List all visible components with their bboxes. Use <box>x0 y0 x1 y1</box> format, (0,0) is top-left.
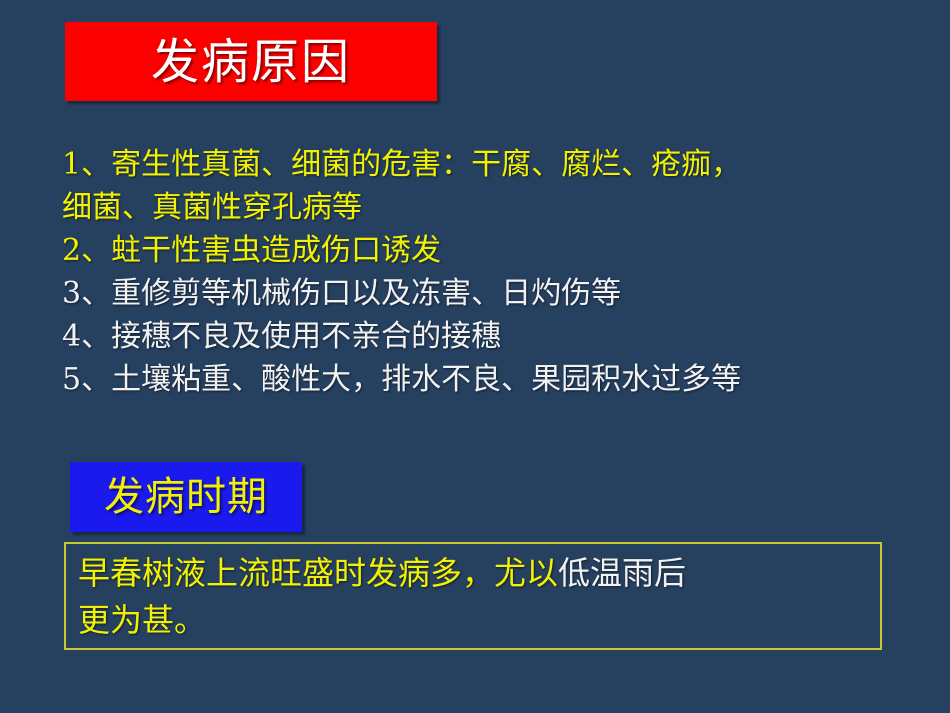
sub-banner-text: 发病时期 <box>104 477 268 517</box>
title-banner-text: 发病原因 <box>151 38 351 86</box>
causes-list: 1、寄生性真菌、细菌的危害：干腐、腐烂、疮痂， 细菌、真菌性穿孔病等 2、蛀干性… <box>62 143 942 401</box>
cause-line-3: 3、重修剪等机械伤口以及冻害、日灼伤等 <box>62 272 942 315</box>
cause-line-1: 1、寄生性真菌、细菌的危害：干腐、腐烂、疮痂， <box>62 143 942 186</box>
note-line-1-white-segment: 低温雨后 <box>558 554 686 592</box>
cause-line-4: 4、接穗不良及使用不亲合的接穗 <box>62 315 942 358</box>
note-line-1-yellow-segment: 早春树液上流旺盛时发病多，尤以 <box>78 554 558 592</box>
cause-line-5: 5、土壤粘重、酸性大，排水不良、果园积水过多等 <box>62 358 942 401</box>
cause-line-2: 2、蛀干性害虫造成伤口诱发 <box>62 229 942 272</box>
sub-banner: 发病时期 <box>70 462 302 532</box>
note-box: 早春树液上流旺盛时发病多，尤以低温雨后 更为甚。 <box>64 542 882 650</box>
note-line-2: 更为甚。 <box>78 597 880 644</box>
slide-canvas: 发病原因 1、寄生性真菌、细菌的危害：干腐、腐烂、疮痂， 细菌、真菌性穿孔病等 … <box>0 0 950 713</box>
title-banner: 发病原因 <box>65 22 437 101</box>
cause-line-1-cont: 细菌、真菌性穿孔病等 <box>62 186 942 229</box>
note-line-1: 早春树液上流旺盛时发病多，尤以低温雨后 <box>78 550 880 597</box>
